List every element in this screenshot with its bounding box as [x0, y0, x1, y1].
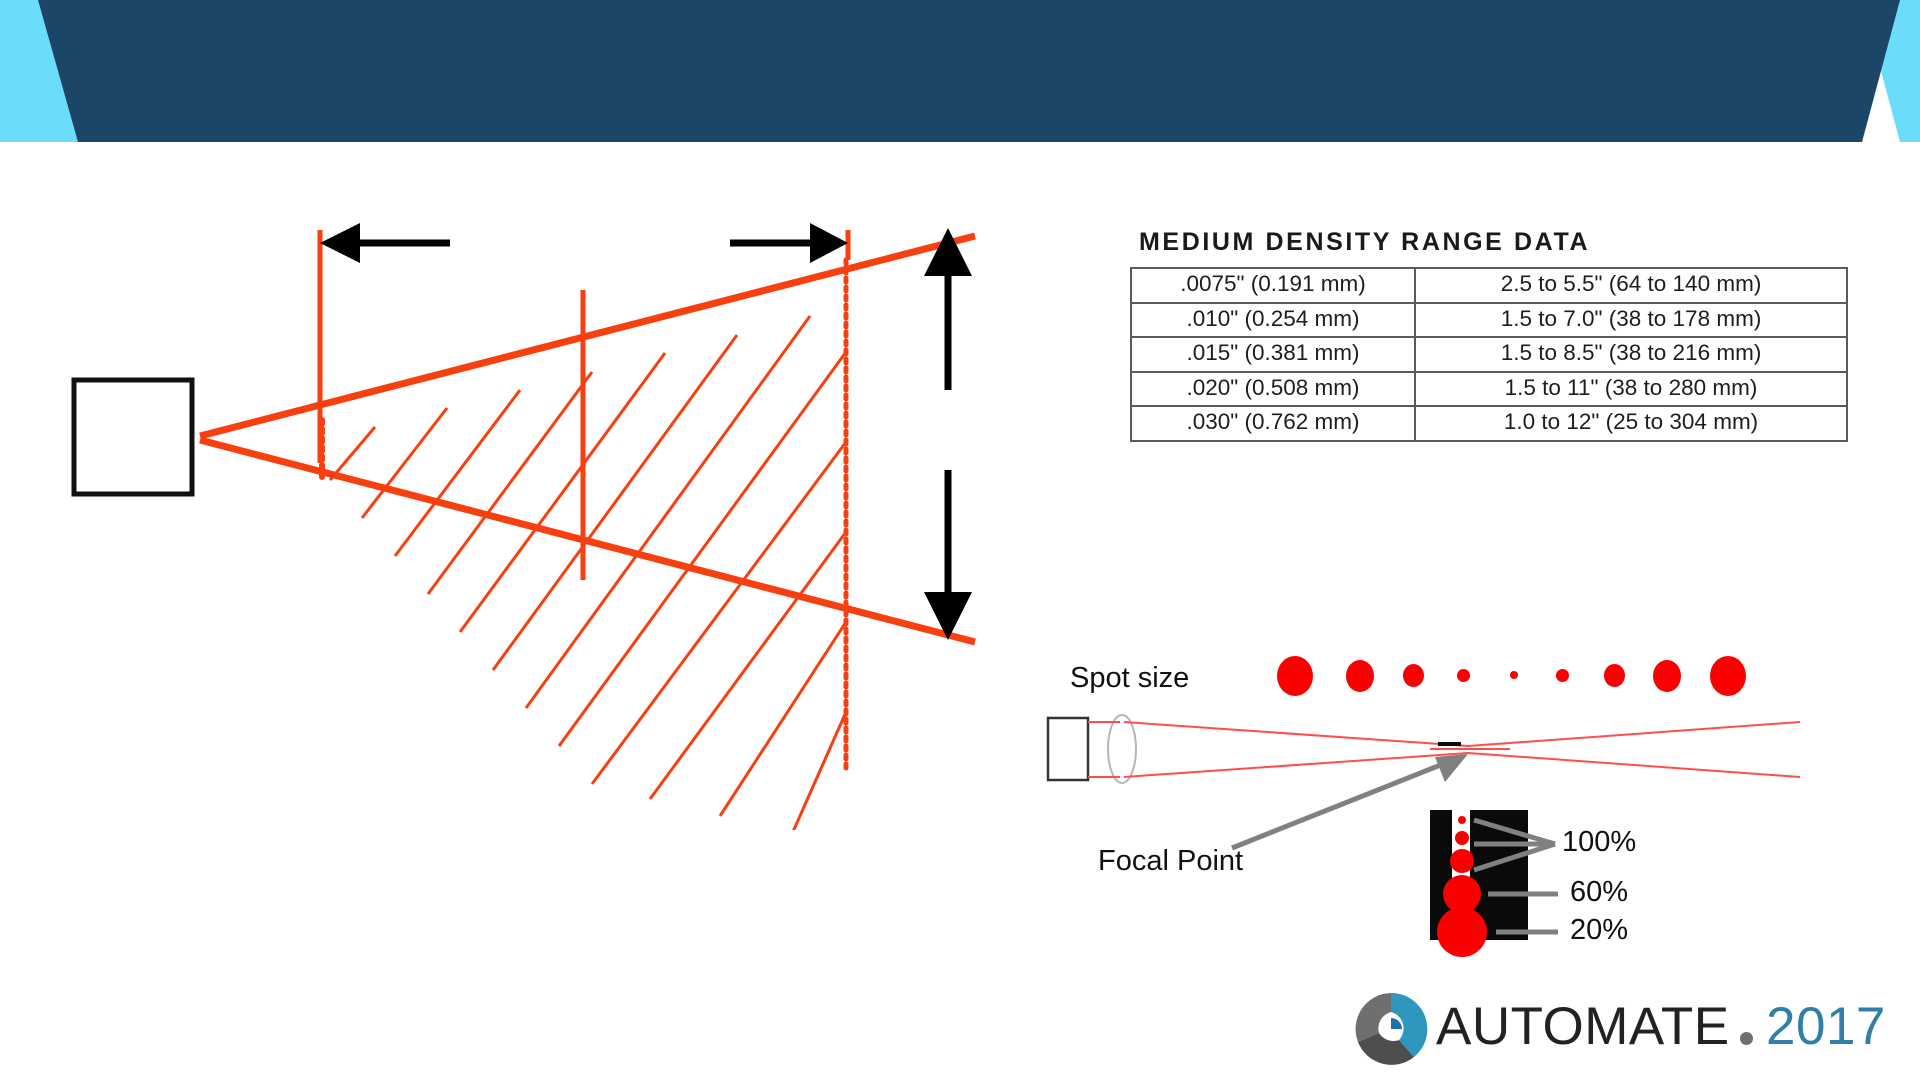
- lens-icon: [1108, 715, 1136, 783]
- automate-swirl-icon: [1352, 990, 1430, 1068]
- intensity-label-100: 100%: [1562, 826, 1636, 859]
- table-row: .030" (0.762 mm) 1.0 to 12" (25 to 304 m…: [1131, 406, 1847, 441]
- table-cell-range: 2.5 to 5.5" (64 to 140 mm): [1415, 268, 1847, 303]
- focal-point-label: Focal Point: [1098, 845, 1243, 878]
- automate-2017-logo: AUTOMATE 2017: [1352, 988, 1912, 1072]
- intensity-dot-20: [1437, 907, 1487, 957]
- beam-divergence-diagram: [0, 180, 1010, 830]
- far-distance-arrow: [730, 223, 848, 263]
- table-cell-range: 1.5 to 11" (38 to 280 mm): [1415, 372, 1847, 407]
- table-cell-range: 1.5 to 7.0" (38 to 178 mm): [1415, 303, 1847, 338]
- table-cell-thickness: .015" (0.381 mm): [1131, 337, 1415, 372]
- spot-size-focal-point-figure: Spot size: [1010, 630, 1910, 970]
- beam-upper-edge: [200, 236, 975, 436]
- laser-source-box: [74, 380, 192, 494]
- logo-year-text: 2017: [1766, 996, 1886, 1057]
- beam-height-down-arrow: [924, 470, 972, 640]
- focal-point-optics-svg: [1010, 630, 1910, 970]
- beam-hatch-lines: [330, 316, 846, 830]
- header-banner: [0, 0, 1920, 150]
- table-cell-thickness: .0075" (0.191 mm): [1131, 268, 1415, 303]
- header-banner-shape: [0, 0, 1920, 150]
- header-main-shape: [38, 0, 1900, 142]
- logo-separator-dot: [1740, 1032, 1753, 1045]
- table-row: .0075" (0.191 mm) 2.5 to 5.5" (64 to 140…: [1131, 268, 1847, 303]
- beam-height-up-arrow: [924, 228, 972, 390]
- range-table-title: MEDIUM DENSITY RANGE DATA: [1139, 228, 1840, 257]
- table-row: .015" (0.381 mm) 1.5 to 8.5" (38 to 216 …: [1131, 337, 1847, 372]
- medium-density-range-data-block: MEDIUM DENSITY RANGE DATA .0075" (0.191 …: [1130, 228, 1840, 442]
- intensity-dot-100b: [1455, 831, 1469, 845]
- logo-wordmark-text: AUTOMATE: [1436, 996, 1730, 1057]
- table-row: .010" (0.254 mm) 1.5 to 7.0" (38 to 178 …: [1131, 303, 1847, 338]
- intensity-label-60: 60%: [1570, 876, 1628, 909]
- intensity-dot-100a: [1458, 816, 1466, 824]
- intensity-label-20: 20%: [1570, 914, 1628, 947]
- table-row: .020" (0.508 mm) 1.5 to 11" (38 to 280 m…: [1131, 372, 1847, 407]
- table-cell-range: 1.5 to 8.5" (38 to 216 mm): [1415, 337, 1847, 372]
- table-cell-thickness: .020" (0.508 mm): [1131, 372, 1415, 407]
- laser-housing-box: [1048, 718, 1088, 780]
- near-distance-arrow: [320, 223, 450, 263]
- intensity-strip-left-bar: [1438, 742, 1461, 746]
- table-cell-thickness: .010" (0.254 mm): [1131, 303, 1415, 338]
- table-cell-thickness: .030" (0.762 mm): [1131, 406, 1415, 441]
- intensity-dot-100c: [1450, 849, 1474, 873]
- table-cell-range: 1.0 to 12" (25 to 304 mm): [1415, 406, 1847, 441]
- beam-divergence-svg: [0, 180, 1010, 830]
- range-data-table: .0075" (0.191 mm) 2.5 to 5.5" (64 to 140…: [1130, 267, 1848, 442]
